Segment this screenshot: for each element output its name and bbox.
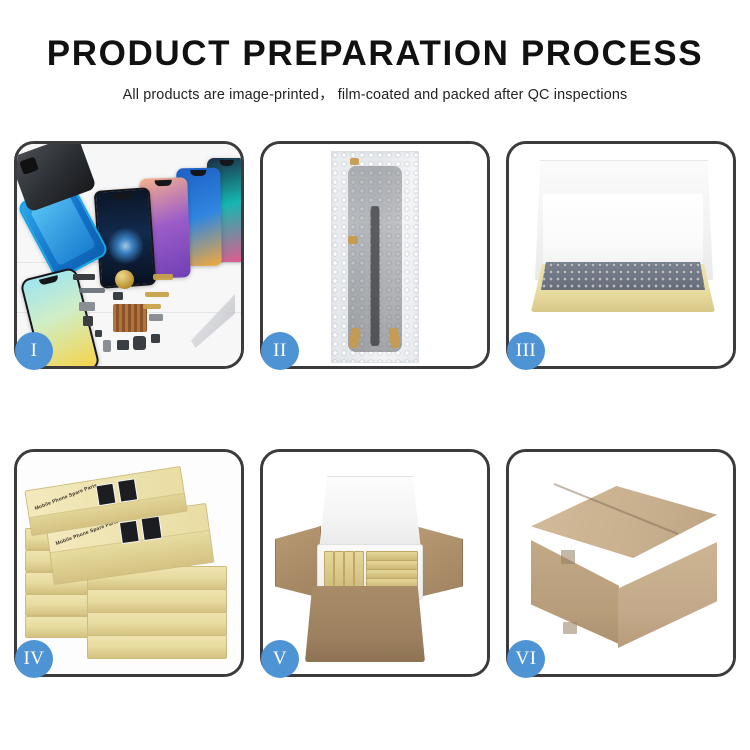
tape-piece [348,236,358,244]
step-badge-1: I [15,332,53,370]
box-stack-illustration: Mobile Phone Spare Parts Mobile Phone Sp… [17,452,241,674]
part-chip [79,302,95,311]
carton-handle-tab [563,622,577,634]
page-root: PRODUCT PREPARATION PROCESS All products… [0,0,750,750]
step-badge-4: IV [15,640,53,678]
stacked-box [87,589,227,613]
open-box-illustration [509,144,733,366]
part-chip [149,314,163,321]
part-chip [133,336,146,350]
stacked-box [87,612,227,636]
box-phone-graphic [119,520,140,544]
box-phone-graphic [141,516,163,541]
phone-rear-housing [17,144,97,213]
part-chip [151,334,160,343]
part-chip [95,330,102,337]
box-phone-graphic [95,483,116,507]
box-stack: Mobile Phone Spare Parts Mobile Phone Sp… [25,470,231,660]
process-step-grid: I II III [14,141,736,677]
sealed-carton-illustration [509,452,733,674]
flex-cable [79,288,105,293]
phone-parts-illustration [17,144,241,366]
part-chip [113,292,123,300]
page-subtitle: All products are image-printed， film-coa… [0,83,750,104]
stacked-box [87,635,227,659]
carton-foam-illustration [263,452,487,674]
carton-top-face [531,486,717,558]
step-badge-3: III [507,332,545,370]
process-step-panel-3: III [506,141,736,369]
flex-cable [153,274,173,280]
part-chip [73,274,95,280]
foam-lid [319,476,421,550]
step-badge-6: VI [507,640,545,678]
process-step-panel-5: V [260,449,490,677]
box-phone-graphic [117,478,138,503]
logic-board-component [113,304,147,332]
process-step-panel-1: I [14,141,244,369]
step-badge-2: II [261,332,299,370]
process-step-panel-6: VI [506,449,736,677]
carton-body [305,586,425,662]
step-badge-5: V [261,640,299,678]
tweezers-tool [191,294,235,348]
process-step-panel-2: II [260,141,490,369]
part-chip [103,340,111,352]
bubble-wrap-illustration [263,144,487,366]
page-title: PRODUCT PREPARATION PROCESS [0,36,750,73]
bubble-padding [541,262,705,290]
bubble-wrap-bag [331,151,419,363]
flex-cable [143,304,161,309]
part-chip [83,316,93,326]
tape-piece [350,158,359,165]
carton-right-face [618,542,717,648]
speaker-component [115,270,134,289]
flex-cable-strip [371,206,380,346]
process-step-panel-4: Mobile Phone Spare Parts Mobile Phone Sp… [14,449,244,677]
page-header: PRODUCT PREPARATION PROCESS All products… [0,0,750,104]
carton-handle-tab [561,550,575,564]
part-chip [117,340,129,350]
flex-cable [145,292,169,297]
